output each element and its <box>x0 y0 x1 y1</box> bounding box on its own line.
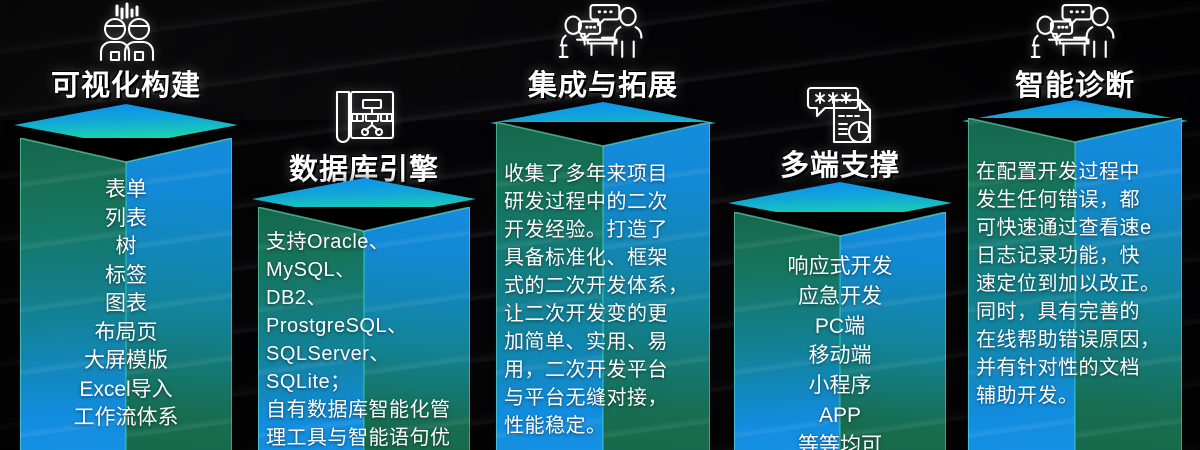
pillar-body-line: 与平台无缝对接， <box>504 384 702 412</box>
pillar-body-line: 可快速通过查看速e <box>976 214 1174 242</box>
pillar-body-line: 式的二次开发体系， <box>504 272 702 300</box>
pillar-body-line: 速定位到加以改正。 <box>976 270 1174 298</box>
pillar-body-line: 在配置开发过程中 <box>976 158 1174 186</box>
pillar-body-line: 收集了多年来项目 <box>504 160 702 188</box>
pillar-integration-extension[interactable]: 集成与拓展 收集了多年来项目研发 <box>496 0 710 450</box>
pillar-list-item: 应急开发 <box>742 282 938 312</box>
pillar-body-line: 让二次开发变的更 <box>504 300 702 328</box>
two-people-with-signal-bars-icon <box>89 2 163 64</box>
pillar-body-line: 并有针对性的文档 <box>976 354 1174 382</box>
pillar-body-line: 发生任何错误，都 <box>976 186 1174 214</box>
pillar-body-line: 加简单、实用、易 <box>504 328 702 356</box>
pillar-body-line: SQLServer、SQLite； <box>266 340 462 396</box>
pillar-list-item: PC端 <box>742 312 938 342</box>
pillar-list-item: Excel导入 <box>28 376 224 405</box>
pillar-list-item: 工作流体系 <box>28 404 224 433</box>
pillar-body-text: 响应式开发应急开发PC端移动端小程序APP等等均可 <box>734 252 946 450</box>
pillar-list-item: 等等均可 <box>742 431 938 450</box>
two-people-chat-desk-icon <box>1027 0 1123 62</box>
pillar-title: 可视化构建 <box>51 62 201 104</box>
pillar-body-line: 辅助开发。 <box>976 382 1174 410</box>
pillar-body-line: 同时，具有完善的 <box>976 298 1174 326</box>
pillar-title: 多端支撑 <box>780 142 900 184</box>
pillar-list-item: 表单 <box>28 176 224 205</box>
pillar-list-item: 树 <box>28 233 224 262</box>
pillar-list-item: 大屏模版 <box>28 347 224 376</box>
pillar-body-line: 用，二次开发平台 <box>504 356 702 384</box>
pillar-body-line: 研发过程中的二次 <box>504 188 702 216</box>
pillar-body-line: 开发经验。打造了 <box>504 216 702 244</box>
pillar-list-item: 列表 <box>28 205 224 234</box>
pillar-list-item: 图表 <box>28 290 224 319</box>
pillar-intelligent-diagnosis[interactable]: 智能诊断 在配置开发过程中发生任 <box>968 0 1182 450</box>
pillar-database-engine[interactable]: 数据库引擎 支持Oracle、M <box>258 0 470 450</box>
pillar-list-item: 移动端 <box>742 341 938 371</box>
pillar-body-line: 具备标准化、框架 <box>504 244 702 272</box>
pillar-body-line: 支持Oracle、MySQL、 <box>266 228 462 284</box>
pillar-multi-terminal-support[interactable]: 多端支撑 响应式开发应急开发PC <box>734 0 946 450</box>
pillar-body-text: 支持Oracle、MySQL、DB2、ProstgreSQL、SQLServer… <box>258 228 470 450</box>
pillar-body-line: 日志记录功能，快 <box>976 242 1174 270</box>
pillar-body-line: 在线帮助错误原因， <box>976 326 1174 354</box>
pillar-list-item: 小程序 <box>742 371 938 401</box>
pillar-title: 集成与拓展 <box>528 62 678 104</box>
database-flowchart-icon <box>327 86 401 148</box>
pillar-body-text: 收集了多年来项目研发过程中的二次开发经验。打造了具备标准化、框架式的二次开发体系… <box>496 160 710 440</box>
pillar-list-item: 标签 <box>28 262 224 291</box>
two-people-chat-desk-icon <box>555 0 651 62</box>
pillar-body-line: 性能稳定。 <box>504 412 702 440</box>
pillar-list-item: 响应式开发 <box>742 252 938 282</box>
pillar-body-line: 理工具与智能语句优 <box>266 424 462 450</box>
pillar-body-line: DB2、ProstgreSQL、 <box>266 284 462 340</box>
pillar-body-text: 在配置开发过程中发生任何错误，都可快速通过查看速e日志记录功能，快速定位到加以改… <box>968 158 1182 410</box>
pillar-list-item: APP <box>742 401 938 431</box>
pillar-visual-build[interactable]: 可视化构建 表单列表树标签图表布 <box>20 0 232 450</box>
pillar-body-text: 表单列表树标签图表布局页大屏模版Excel导入工作流体系 <box>20 176 232 433</box>
password-bubble-document-icon <box>803 84 877 146</box>
pillar-body-line: 自有数据库智能化管 <box>266 396 462 424</box>
pillar-list-item: 布局页 <box>28 319 224 348</box>
